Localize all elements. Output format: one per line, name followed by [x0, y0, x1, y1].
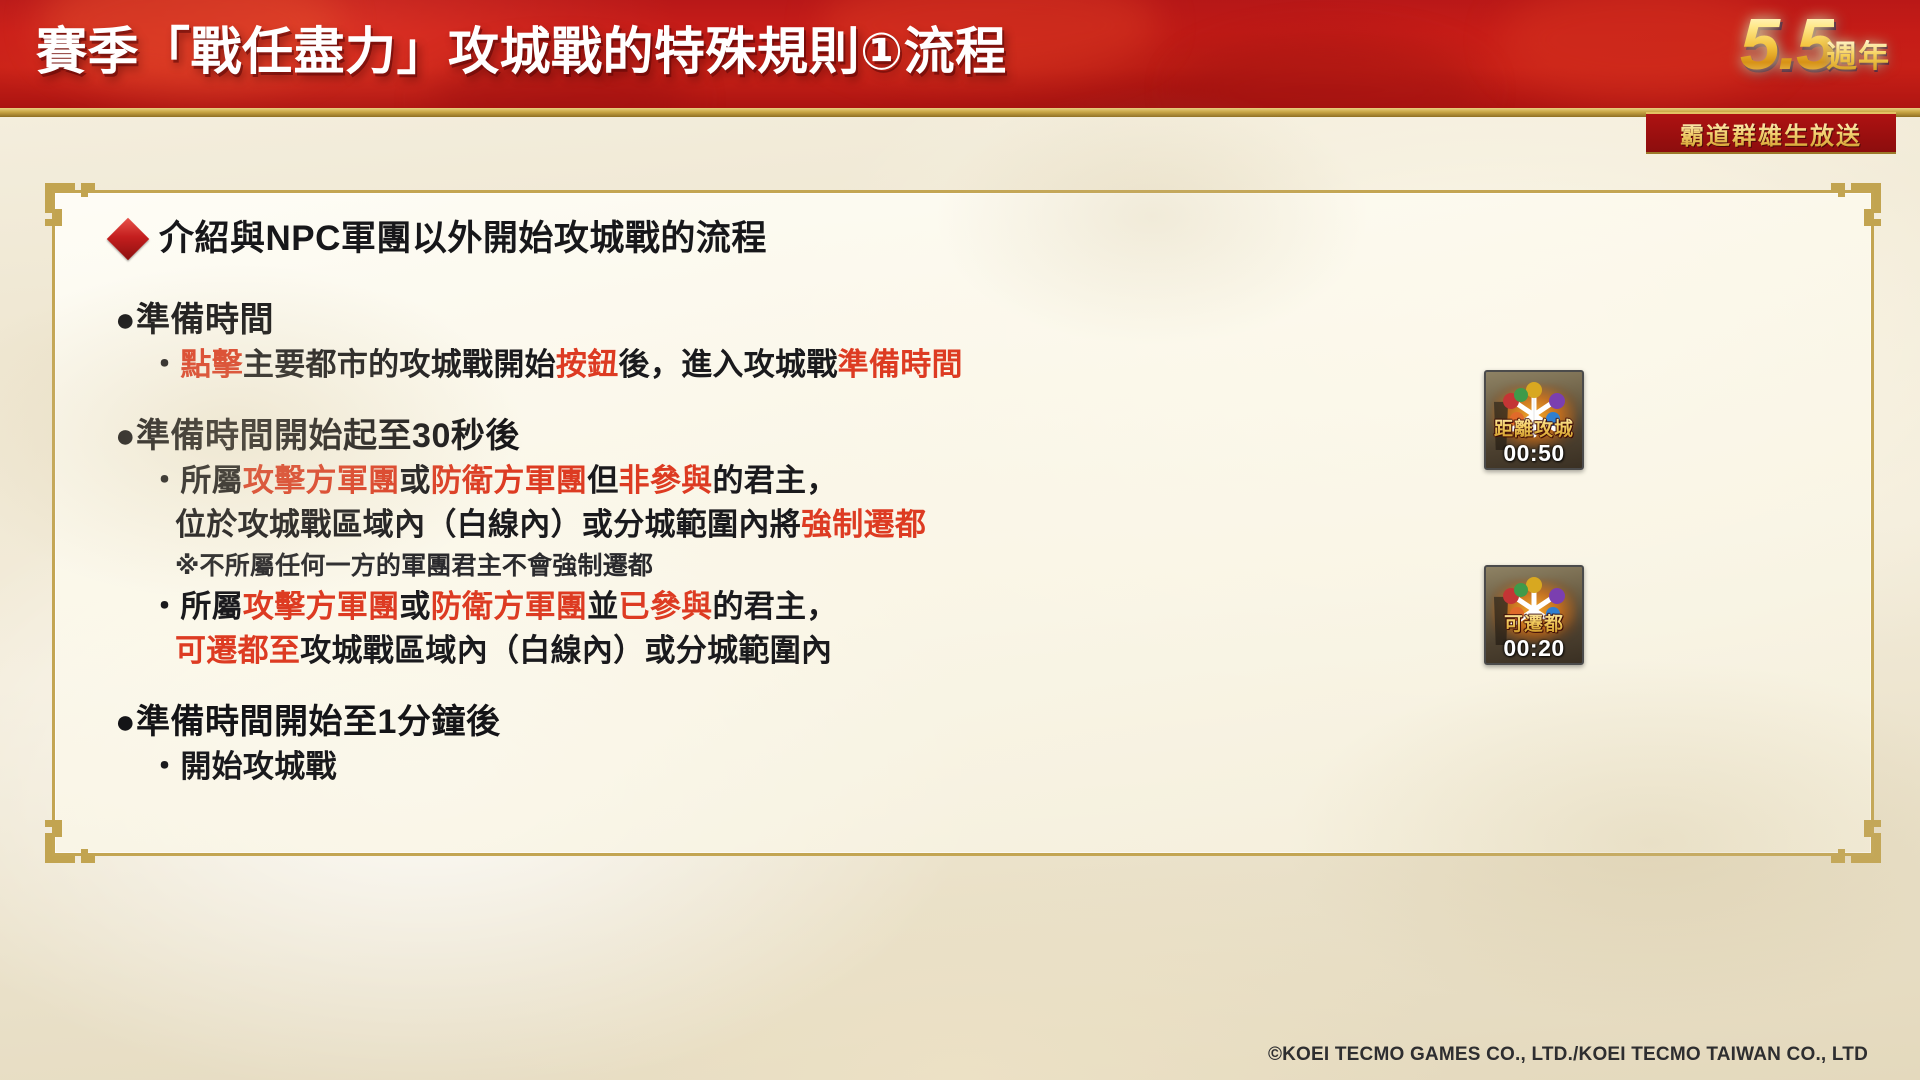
corner-ornament-bottom-right: [1831, 813, 1885, 867]
body-text: 或: [399, 589, 430, 624]
page-title: 賽季「戰任盡力」攻城戰的特殊規則①流程: [36, 17, 1007, 87]
broadcast-banner-label: 霸道群雄生放送: [1680, 116, 1862, 151]
rule-bullet-line: ・開始攻城戰: [149, 745, 1533, 789]
bullet-marker-icon: ・: [149, 463, 180, 498]
rule-note-line: ※不所屬任何一方的軍團君主不會強制遷都: [175, 547, 1533, 585]
body-text: 的君主，: [712, 589, 837, 624]
section-heading-label: 介紹與NPC軍團以外開始攻城戰的流程: [159, 219, 767, 259]
rule-bullet-line: 位於攻城戰區域內（白線內）或分城範圍內將強制遷都: [175, 503, 1533, 547]
highlighted-text: 準備時間: [838, 347, 963, 382]
badge-label: 可遷都: [1486, 609, 1582, 636]
highlighted-text: 點擊: [180, 347, 243, 382]
badge-timer: 00:20: [1486, 635, 1582, 662]
body-text: 所屬: [180, 463, 243, 498]
anniversary-logo: 5.5 週年 霸道群雄生放送: [1646, 4, 1896, 150]
anniversary-version: 5.5: [1740, 6, 1834, 84]
body-text: 後，進入攻城戰: [619, 347, 838, 382]
body-text: 或: [399, 463, 430, 498]
highlighted-text: 防衛方軍團: [431, 463, 588, 498]
body-text: 的君主，: [712, 463, 837, 498]
rules-list: ●準備時間・點擊主要都市的攻城戰開始按鈕後，進入攻城戰準備時間●準備時間開始起至…: [113, 297, 1533, 789]
bullet-marker-icon: ・: [149, 347, 180, 382]
body-text: 開始攻城戰: [180, 749, 337, 784]
bullet-marker-icon: ・: [149, 749, 180, 784]
badge-timer: 00:50: [1486, 440, 1582, 467]
header-gold-rule: [0, 108, 1920, 117]
body-text: ※不所屬任何一方的軍團君主不會強制遷都: [175, 552, 653, 580]
corner-ornament-top-right: [1831, 179, 1885, 233]
rule-section: ●準備時間・點擊主要都市的攻城戰開始按鈕後，進入攻城戰準備時間: [113, 297, 1533, 387]
highlighted-text: 防衛方軍團: [431, 589, 588, 624]
body-text: 攻城戰區域內（白線內）或分城範圍內: [300, 633, 832, 668]
rule-bullet-line: 可遷都至攻城戰區域內（白線內）或分城範圍內: [175, 629, 1533, 673]
highlighted-text: 非參與: [619, 463, 713, 498]
rule-bullet-line: ・所屬攻擊方軍團或防衛方軍團並已參與的君主，: [149, 585, 1533, 629]
rule-section-title: ●準備時間開始起至30秒後: [115, 413, 1533, 459]
badge-label: 距離攻城: [1486, 414, 1582, 441]
body-text: 位於攻城戰區域內（白線內）或分城範圍內將: [175, 507, 801, 542]
rule-bullet-line: ・所屬攻擊方軍團或防衛方軍團但非參與的君主，: [149, 459, 1533, 503]
slide-background: 賽季「戰任盡力」攻城戰的特殊規則①流程 5.5 週年 霸道群雄生放送: [0, 0, 1920, 1080]
section-heading: 介紹與NPC軍團以外開始攻城戰的流程: [113, 219, 1533, 259]
broadcast-banner: 霸道群雄生放送: [1646, 112, 1896, 154]
corner-ornament-top-left: [41, 179, 95, 233]
body-text: 主要都市的攻城戰開始: [243, 347, 556, 382]
rule-bullet-line: ・點擊主要都市的攻城戰開始按鈕後，進入攻城戰準備時間: [149, 343, 1533, 387]
body-text: 但: [587, 463, 618, 498]
highlighted-text: 攻擊方軍團: [243, 589, 400, 624]
panel-content: 介紹與NPC軍團以外開始攻城戰的流程 ●準備時間・點擊主要都市的攻城戰開始按鈕後…: [113, 219, 1533, 815]
corner-ornament-bottom-left: [41, 813, 95, 867]
rule-section: ●準備時間開始至1分鐘後・開始攻城戰: [113, 699, 1533, 789]
rule-section: ●準備時間開始起至30秒後・所屬攻擊方軍團或防衛方軍團但非參與的君主，位於攻城戰…: [113, 413, 1533, 673]
highlighted-text: 強制遷都: [801, 507, 926, 542]
content-panel: 介紹與NPC軍團以外開始攻城戰的流程 ●準備時間・點擊主要都市的攻城戰開始按鈕後…: [52, 190, 1874, 856]
red-diamond-icon: [107, 218, 149, 260]
highlighted-text: 攻擊方軍團: [243, 463, 400, 498]
relocation-countdown-badge: 可遷都 00:20: [1484, 565, 1584, 665]
body-text: 所屬: [180, 589, 243, 624]
anniversary-label: 週年: [1826, 40, 1890, 74]
body-text: 並: [587, 589, 618, 624]
highlighted-text: 已參與: [619, 589, 713, 624]
siege-countdown-badge: 距離攻城 00:50: [1484, 370, 1584, 470]
rule-section-title: ●準備時間: [115, 297, 1533, 343]
highlighted-text: 按鈕: [556, 347, 619, 382]
highlighted-text: 可遷都至: [175, 633, 300, 668]
copyright-notice: ©KOEI TECMO GAMES CO., LTD./KOEI TECMO T…: [1268, 1044, 1868, 1066]
bullet-marker-icon: ・: [149, 589, 180, 624]
rule-section-title: ●準備時間開始至1分鐘後: [115, 699, 1533, 745]
